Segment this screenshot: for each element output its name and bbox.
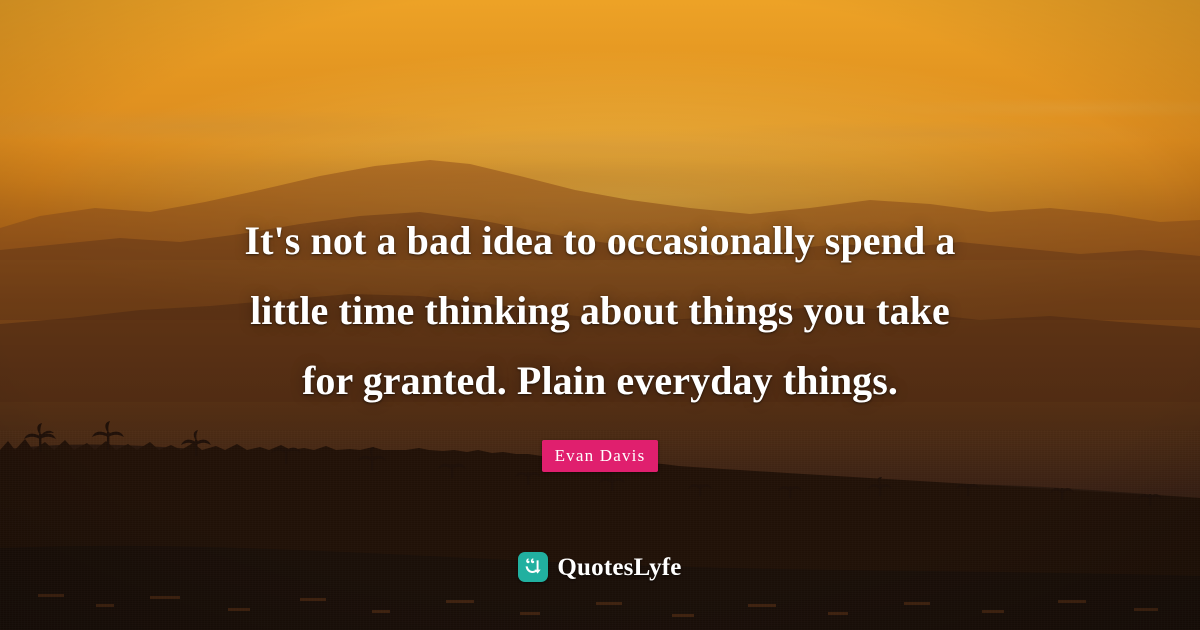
brand-logo[interactable]: QuotesLyfe (0, 552, 1200, 582)
quote-line-2: little time thinking about things you ta… (150, 276, 1050, 346)
quote-smiley-icon (518, 552, 548, 582)
quote-card: It's not a bad idea to occasionally spen… (0, 0, 1200, 630)
quote-line-1: It's not a bad idea to occasionally spen… (150, 206, 1050, 276)
author-name-badge[interactable]: Evan Davis (542, 440, 659, 472)
quote-text: It's not a bad idea to occasionally spen… (150, 206, 1050, 416)
card-content: It's not a bad idea to occasionally spen… (0, 0, 1200, 630)
quote-line-3: for granted. Plain everyday things. (150, 346, 1050, 416)
brand-wordmark: QuotesLyfe (557, 555, 681, 580)
author-attribution: Evan Davis (542, 440, 659, 472)
